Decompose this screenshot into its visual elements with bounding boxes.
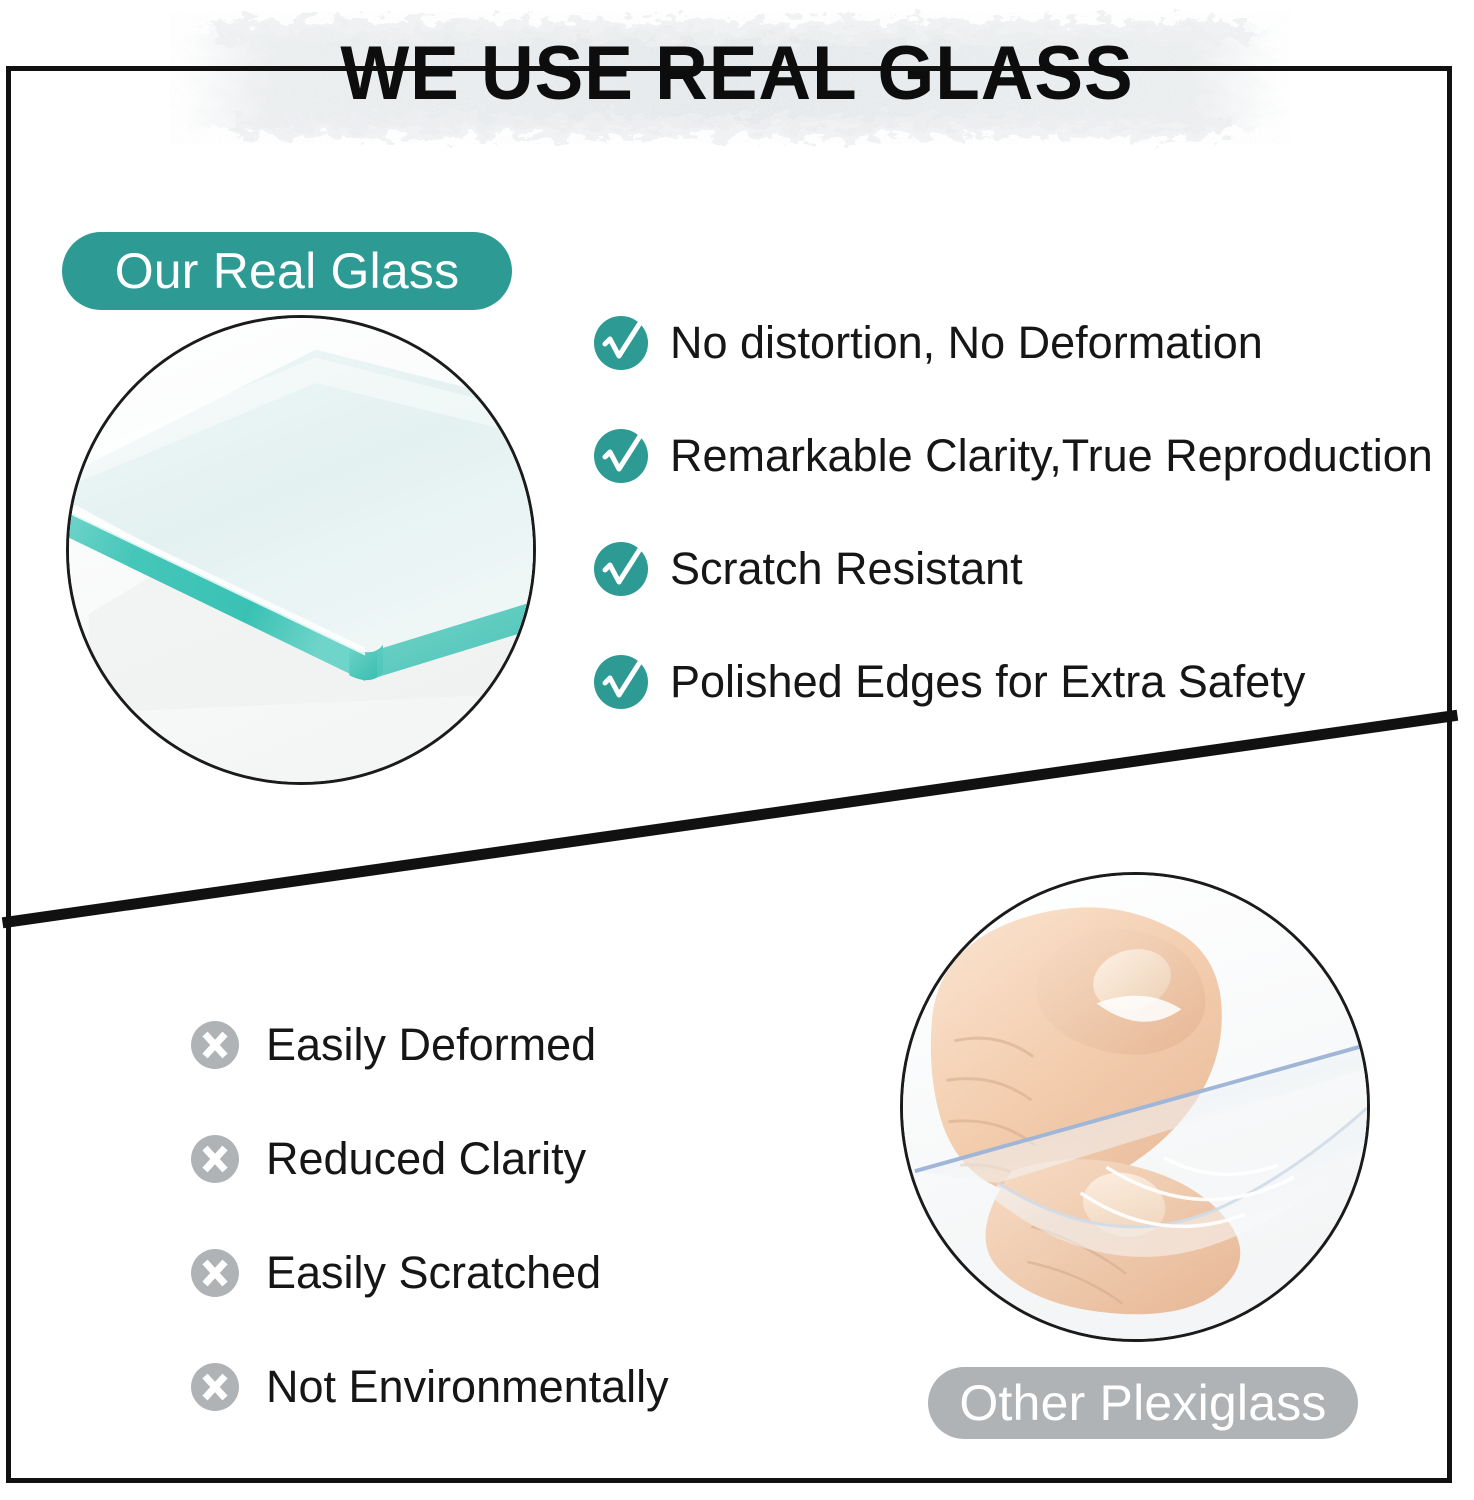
badge-our-real-glass: Our Real Glass [62, 232, 512, 310]
cons-list: Easily Deformed Reduced Clarity Easily S… [190, 988, 810, 1444]
list-item-label: No distortion, No Deformation [670, 317, 1263, 369]
check-icon [592, 653, 650, 711]
real-glass-corner-photo [66, 315, 536, 785]
list-item: Easily Deformed [190, 988, 810, 1102]
list-item-label: Scratch Resistant [670, 543, 1023, 595]
badge-our-real-glass-label: Our Real Glass [115, 242, 460, 300]
check-icon [592, 314, 650, 372]
list-item-label: Easily Deformed [266, 1019, 596, 1071]
infographic-page: WE USE REAL GLASS Our Real Glass [0, 0, 1474, 1500]
list-item: No distortion, No Deformation [592, 286, 1462, 399]
list-item: Polished Edges for Extra Safety [592, 625, 1462, 738]
check-icon [592, 540, 650, 598]
x-icon [190, 1020, 240, 1070]
badge-other-plexiglass-label: Other Plexiglass [959, 1374, 1326, 1432]
list-item-label: Polished Edges for Extra Safety [670, 656, 1305, 708]
list-item: Not Environmentally [190, 1330, 810, 1444]
list-item-label: Not Environmentally [266, 1361, 669, 1413]
list-item-label: Reduced Clarity [266, 1133, 586, 1185]
pros-list: No distortion, No Deformation Remarkable… [592, 286, 1462, 738]
badge-other-plexiglass: Other Plexiglass [928, 1367, 1358, 1439]
check-icon [592, 427, 650, 485]
x-icon [190, 1362, 240, 1412]
list-item: Easily Scratched [190, 1216, 810, 1330]
x-icon [190, 1134, 240, 1184]
list-item-label: Easily Scratched [266, 1247, 601, 1299]
plexiglass-bending-photo [900, 872, 1370, 1342]
list-item-label: Remarkable Clarity,True Reproduction [670, 430, 1433, 482]
x-icon [190, 1248, 240, 1298]
list-item: Reduced Clarity [190, 1102, 810, 1216]
page-title: WE USE REAL GLASS [29, 30, 1444, 117]
list-item: Scratch Resistant [592, 512, 1462, 625]
list-item: Remarkable Clarity,True Reproduction [592, 399, 1462, 512]
